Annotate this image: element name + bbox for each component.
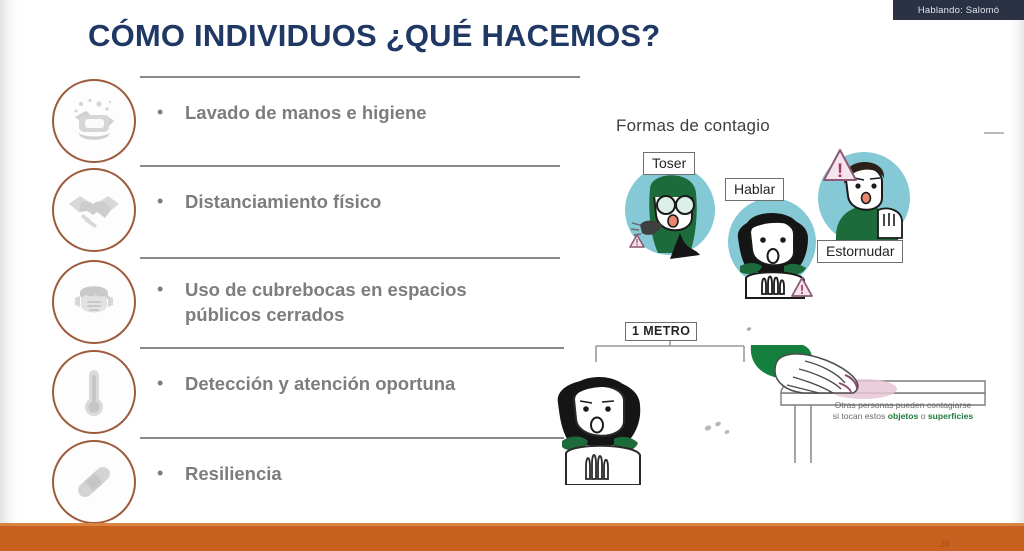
footer-bar <box>0 523 1024 551</box>
handwashing-icon <box>52 79 136 163</box>
illustration-heading: Formas de contagio <box>616 116 770 136</box>
tag-distance: 1 METRO <box>625 322 697 341</box>
row-divider <box>140 437 564 439</box>
svg-text:!: ! <box>837 161 843 182</box>
decorative-dash <box>984 132 1004 134</box>
list-item-label: Detección y atención oportuna <box>185 371 545 396</box>
row-divider <box>140 347 564 349</box>
tag-talk: Hablar <box>725 178 784 201</box>
bullet-glyph: • <box>157 277 163 302</box>
figure-sneezing: ! <box>808 140 918 255</box>
footer-bar-highlight <box>0 523 1024 526</box>
svg-text:!: ! <box>800 282 804 297</box>
surface-caption: Otras personas pueden contagiarse si toc… <box>813 400 993 422</box>
page-title: CÓMO INDIVIDUOS ¿QUÉ HACEMOS? <box>88 18 660 54</box>
surface-caption-line1: Otras personas pueden contagiarse <box>835 400 972 410</box>
surface-caption-prefix: si tocan estos <box>833 411 888 421</box>
surface-caption-surfaces: superficies <box>928 411 973 421</box>
figure-person-distance <box>540 355 670 485</box>
handshake-icon <box>52 168 136 252</box>
face-mask-icon <box>52 260 136 344</box>
list-item-label: Uso de cubrebocas en espacios públicos c… <box>185 277 515 327</box>
page-number: 39 <box>940 539 950 549</box>
svg-text:!: ! <box>636 238 639 248</box>
list-item-label: Resiliencia <box>185 461 545 486</box>
surface-caption-mid: o <box>918 411 928 421</box>
bullet-glyph: • <box>157 100 163 125</box>
list-item-label: Lavado de manos e higiene <box>185 100 545 125</box>
row-divider <box>140 76 580 78</box>
bandage-icon <box>52 440 136 524</box>
contagion-illustration: Formas de contagio ! Toser <box>520 100 1010 500</box>
slide-canvas: Hablando: Salomó CÓMO INDIVIDUOS ¿QUÉ HA… <box>0 0 1024 551</box>
tag-sneeze: Estornudar <box>817 240 903 263</box>
tag-cough: Toser <box>643 152 695 175</box>
thermometer-icon <box>52 350 136 434</box>
right-edge-shading <box>1010 0 1024 551</box>
droplet-mark-small <box>742 322 756 336</box>
surface-caption-objects: objetos <box>888 411 919 421</box>
measures-list: • Lavado de manos e higiene • Distanciam… <box>52 72 532 522</box>
row-divider <box>140 257 560 259</box>
row-divider <box>140 165 560 167</box>
left-edge-shading <box>0 0 18 551</box>
bullet-glyph: • <box>157 371 163 396</box>
bullet-glyph: • <box>157 189 163 214</box>
list-item-label: Distanciamiento físico <box>185 189 545 214</box>
speaker-badge: Hablando: Salomó <box>893 0 1024 20</box>
droplet-marks <box>698 410 744 442</box>
bullet-glyph: • <box>157 461 163 486</box>
